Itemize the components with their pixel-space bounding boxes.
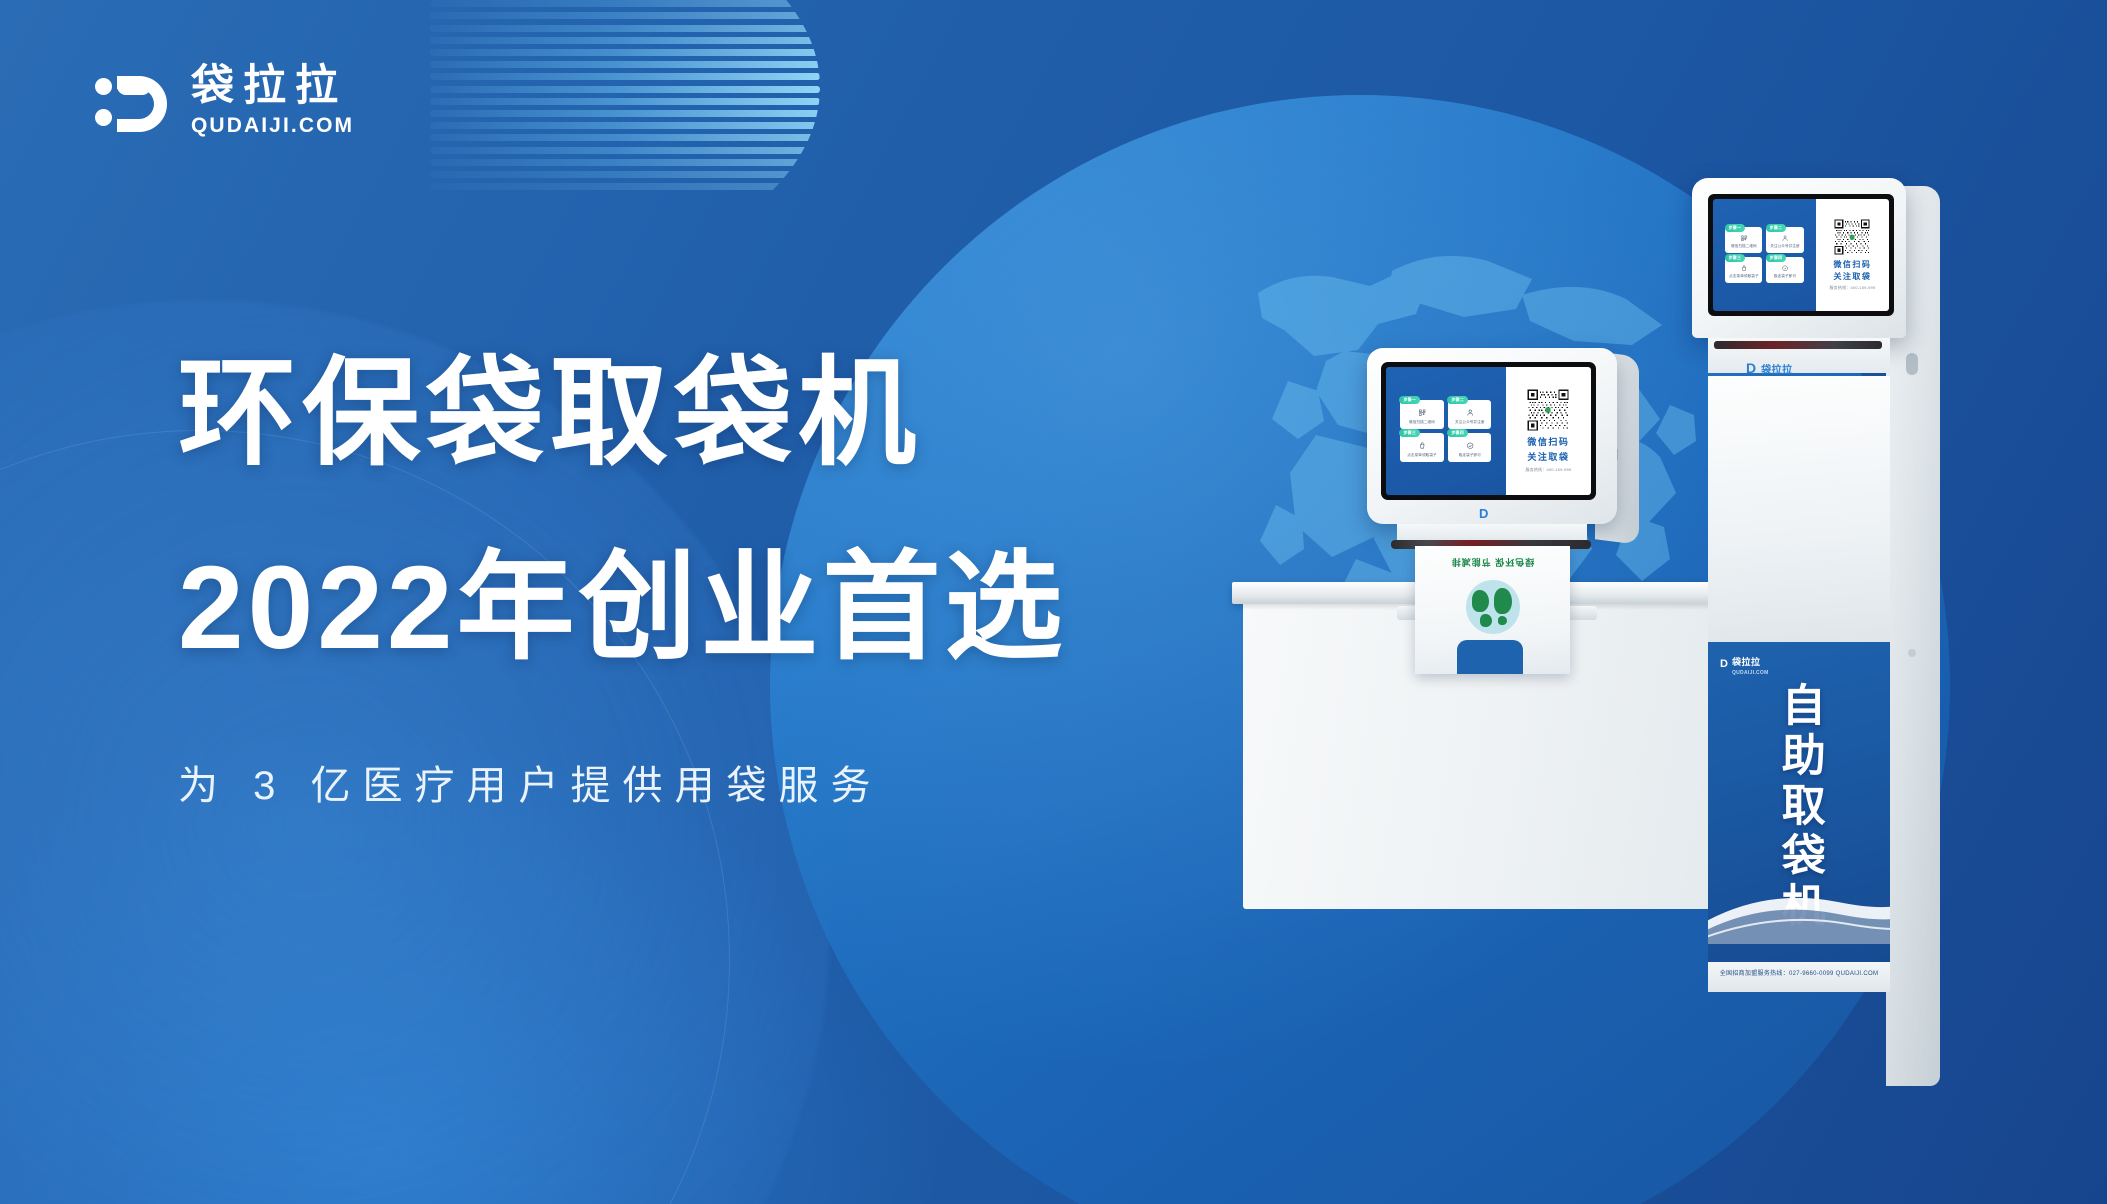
stripe-bar <box>430 122 820 129</box>
stripe-bar <box>430 12 820 19</box>
stripe-bar <box>430 49 820 56</box>
qr-title-line-2: 关注取袋 <box>1527 450 1569 463</box>
desktop-kiosk-unit[interactable]: 步骤一 微信扫描二维码 步骤二 关注公众号并注册 <box>1367 348 1639 598</box>
screen-content: 步骤一 微信扫描二维码 步骤二 关注公众号并注册 <box>1386 367 1591 495</box>
brand-name-cn: 袋拉拉 <box>1732 657 1761 667</box>
screen-steps-panel: 步骤一 微信扫描二维码 步骤二 关注公众号并注册 <box>1386 367 1506 495</box>
qr-scan-icon <box>1737 235 1751 242</box>
step-tag: 步骤四 <box>1766 254 1787 262</box>
menu-bag-icon <box>1737 265 1751 272</box>
step-label: 取走袋子即可 <box>1459 453 1481 458</box>
step-card[interactable]: 步骤一 微信扫描二维码 <box>1725 227 1762 252</box>
step-tag: 步骤三 <box>1725 254 1746 262</box>
desktop-kiosk-shell: 步骤一 微信扫描二维码 步骤二 关注公众号并注册 <box>1367 348 1617 524</box>
floor-kiosk-graphic-panel: D 袋拉拉 QUDAIJI.COM 自助取袋机 <box>1708 642 1890 962</box>
floor-kiosk-head: 步骤一 微信扫描二维码 步骤二 关注公众号并注册 <box>1692 178 1906 338</box>
brand-logo[interactable]: 袋拉拉 QUDAIJI.COM <box>95 62 354 140</box>
qr-code-image[interactable] <box>1834 219 1870 255</box>
step-label: 微信扫描二维码 <box>1731 244 1757 249</box>
banner-stage: 袋拉拉 QUDAIJI.COM 环保袋取袋机 2022年创业首选 为 3 亿医疗… <box>0 0 2107 1204</box>
qr-code-image[interactable] <box>1527 389 1569 431</box>
wechat-follow-icon <box>1462 409 1478 416</box>
stripe-bar <box>430 86 820 93</box>
screen-content: 步骤一 微信扫描二维码 步骤二 关注公众号并注册 <box>1713 199 1889 311</box>
stripe-bar <box>430 98 820 105</box>
dispensed-eco-bag: 绿色环保 节能减排 <box>1415 546 1570 674</box>
desktop-kiosk-screen[interactable]: 步骤一 微信扫描二维码 步骤二 关注公众号并注册 <box>1381 362 1596 500</box>
screen-steps-panel: 步骤一 微信扫描二维码 步骤二 关注公众号并注册 <box>1713 199 1816 311</box>
headline-line-2: 2022年创业首选 <box>178 549 1067 667</box>
stripe-bar <box>430 171 820 178</box>
headline-line-1: 环保袋取袋机 <box>178 355 1067 473</box>
side-screw-icon <box>1908 649 1916 657</box>
brand-mark-icon <box>95 62 169 140</box>
headline-subtitle: 为 3 亿医疗用户提供用袋服务 <box>178 753 1067 811</box>
panel-brand-lockup: D 袋拉拉 QUDAIJI.COM <box>1720 652 1769 676</box>
stripe-bar <box>430 147 820 154</box>
step-card[interactable]: 步骤一 微信扫描二维码 <box>1400 400 1443 429</box>
check-circle-icon <box>1778 265 1792 272</box>
step-tag: 步骤一 <box>1725 224 1746 232</box>
brand-name-en: QUDAIJI.COM <box>1732 670 1769 676</box>
bag-handle-cutout <box>1457 640 1523 674</box>
eco-bag-slogan: 绿色环保 节能减排 <box>1415 556 1570 569</box>
check-circle-icon <box>1462 442 1478 449</box>
step-tag: 步骤四 <box>1447 429 1468 437</box>
wechat-follow-icon <box>1778 235 1792 242</box>
step-card[interactable]: 步骤二 关注公众号并注册 <box>1448 400 1491 429</box>
step-card[interactable]: 步骤四 取走袋子即可 <box>1448 433 1491 462</box>
stripe-bar <box>430 134 820 141</box>
step-label: 取走袋子即可 <box>1774 274 1796 279</box>
step-card[interactable]: 步骤三 点击菜单领取袋子 <box>1400 433 1443 462</box>
stripe-bar <box>430 25 820 32</box>
stripe-bar <box>430 159 820 166</box>
brand-name-en: QUDAIJI.COM <box>191 114 354 138</box>
floor-kiosk-footer-text: 全国招商加盟服务热线：027-9660-0099 QUDAIJI.COM <box>1708 968 1890 977</box>
screen-qr-panel: 微信扫码 关注取袋 服务热线：400-159-999 <box>1816 199 1889 311</box>
floor-standing-kiosk[interactable]: 步骤一 微信扫描二维码 步骤二 关注公众号并注册 <box>1686 178 1940 950</box>
step-tag: 步骤一 <box>1399 396 1420 404</box>
stripe-bar <box>430 37 820 44</box>
stripe-bar <box>430 73 820 80</box>
step-tag: 步骤二 <box>1766 224 1787 232</box>
earth-globe-icon <box>1466 580 1520 634</box>
brand-mark-icon: D <box>1746 360 1756 376</box>
bag-dispense-slot <box>1714 341 1882 349</box>
step-label: 关注公众号并注册 <box>1455 420 1485 425</box>
stripe-bar <box>430 183 820 190</box>
step-label: 点击菜单领取袋子 <box>1407 453 1437 458</box>
qr-title-line-2: 关注取袋 <box>1833 271 1871 282</box>
qr-title-line-1: 微信扫码 <box>1833 259 1871 270</box>
desktop-brand-mark-icon: D <box>1479 506 1489 521</box>
decorative-stripe-fan <box>430 0 820 195</box>
qr-hotline: 服务热线：400-159-999 <box>1525 467 1571 473</box>
floor-kiosk-column <box>1708 376 1890 642</box>
stripe-bar <box>430 110 820 117</box>
step-tag: 步骤三 <box>1399 429 1420 437</box>
step-label: 点击菜单领取袋子 <box>1729 274 1759 279</box>
step-tag: 步骤二 <box>1447 396 1468 404</box>
step-card[interactable]: 步骤二 关注公众号并注册 <box>1766 227 1803 252</box>
qr-hotline: 服务热线：400-159-999 <box>1829 285 1875 291</box>
floor-kiosk-footer-band: 全国招商加盟服务热线：027-9660-0099 QUDAIJI.COM <box>1708 962 1890 992</box>
stripe-bar <box>430 61 820 68</box>
panel-wave-decoration <box>1708 858 1890 944</box>
floor-kiosk-screen[interactable]: 步骤一 微信扫描二维码 步骤二 关注公众号并注册 <box>1708 194 1894 316</box>
headline-block: 环保袋取袋机 2022年创业首选 为 3 亿医疗用户提供用袋服务 <box>178 355 1067 811</box>
brand-name-cn: 袋拉拉 <box>1761 361 1793 376</box>
brand-mark-icon: D <box>1720 658 1728 670</box>
step-label: 微信扫描二维码 <box>1409 420 1435 425</box>
brand-name-cn: 袋拉拉 <box>191 64 354 109</box>
step-card[interactable]: 步骤三 点击菜单领取袋子 <box>1725 257 1762 282</box>
stripe-bar <box>430 0 820 7</box>
floor-kiosk-brand-badge: D 袋拉拉 <box>1746 360 1793 376</box>
step-card[interactable]: 步骤四 取走袋子即可 <box>1766 257 1803 282</box>
qr-title-line-1: 微信扫码 <box>1527 435 1569 448</box>
qr-scan-icon <box>1414 409 1430 416</box>
side-port-icon <box>1906 353 1918 375</box>
menu-bag-icon <box>1414 442 1430 449</box>
step-label: 关注公众号并注册 <box>1770 244 1800 249</box>
screen-qr-panel: 微信扫码 关注取袋 服务热线：400-159-999 <box>1506 367 1591 495</box>
